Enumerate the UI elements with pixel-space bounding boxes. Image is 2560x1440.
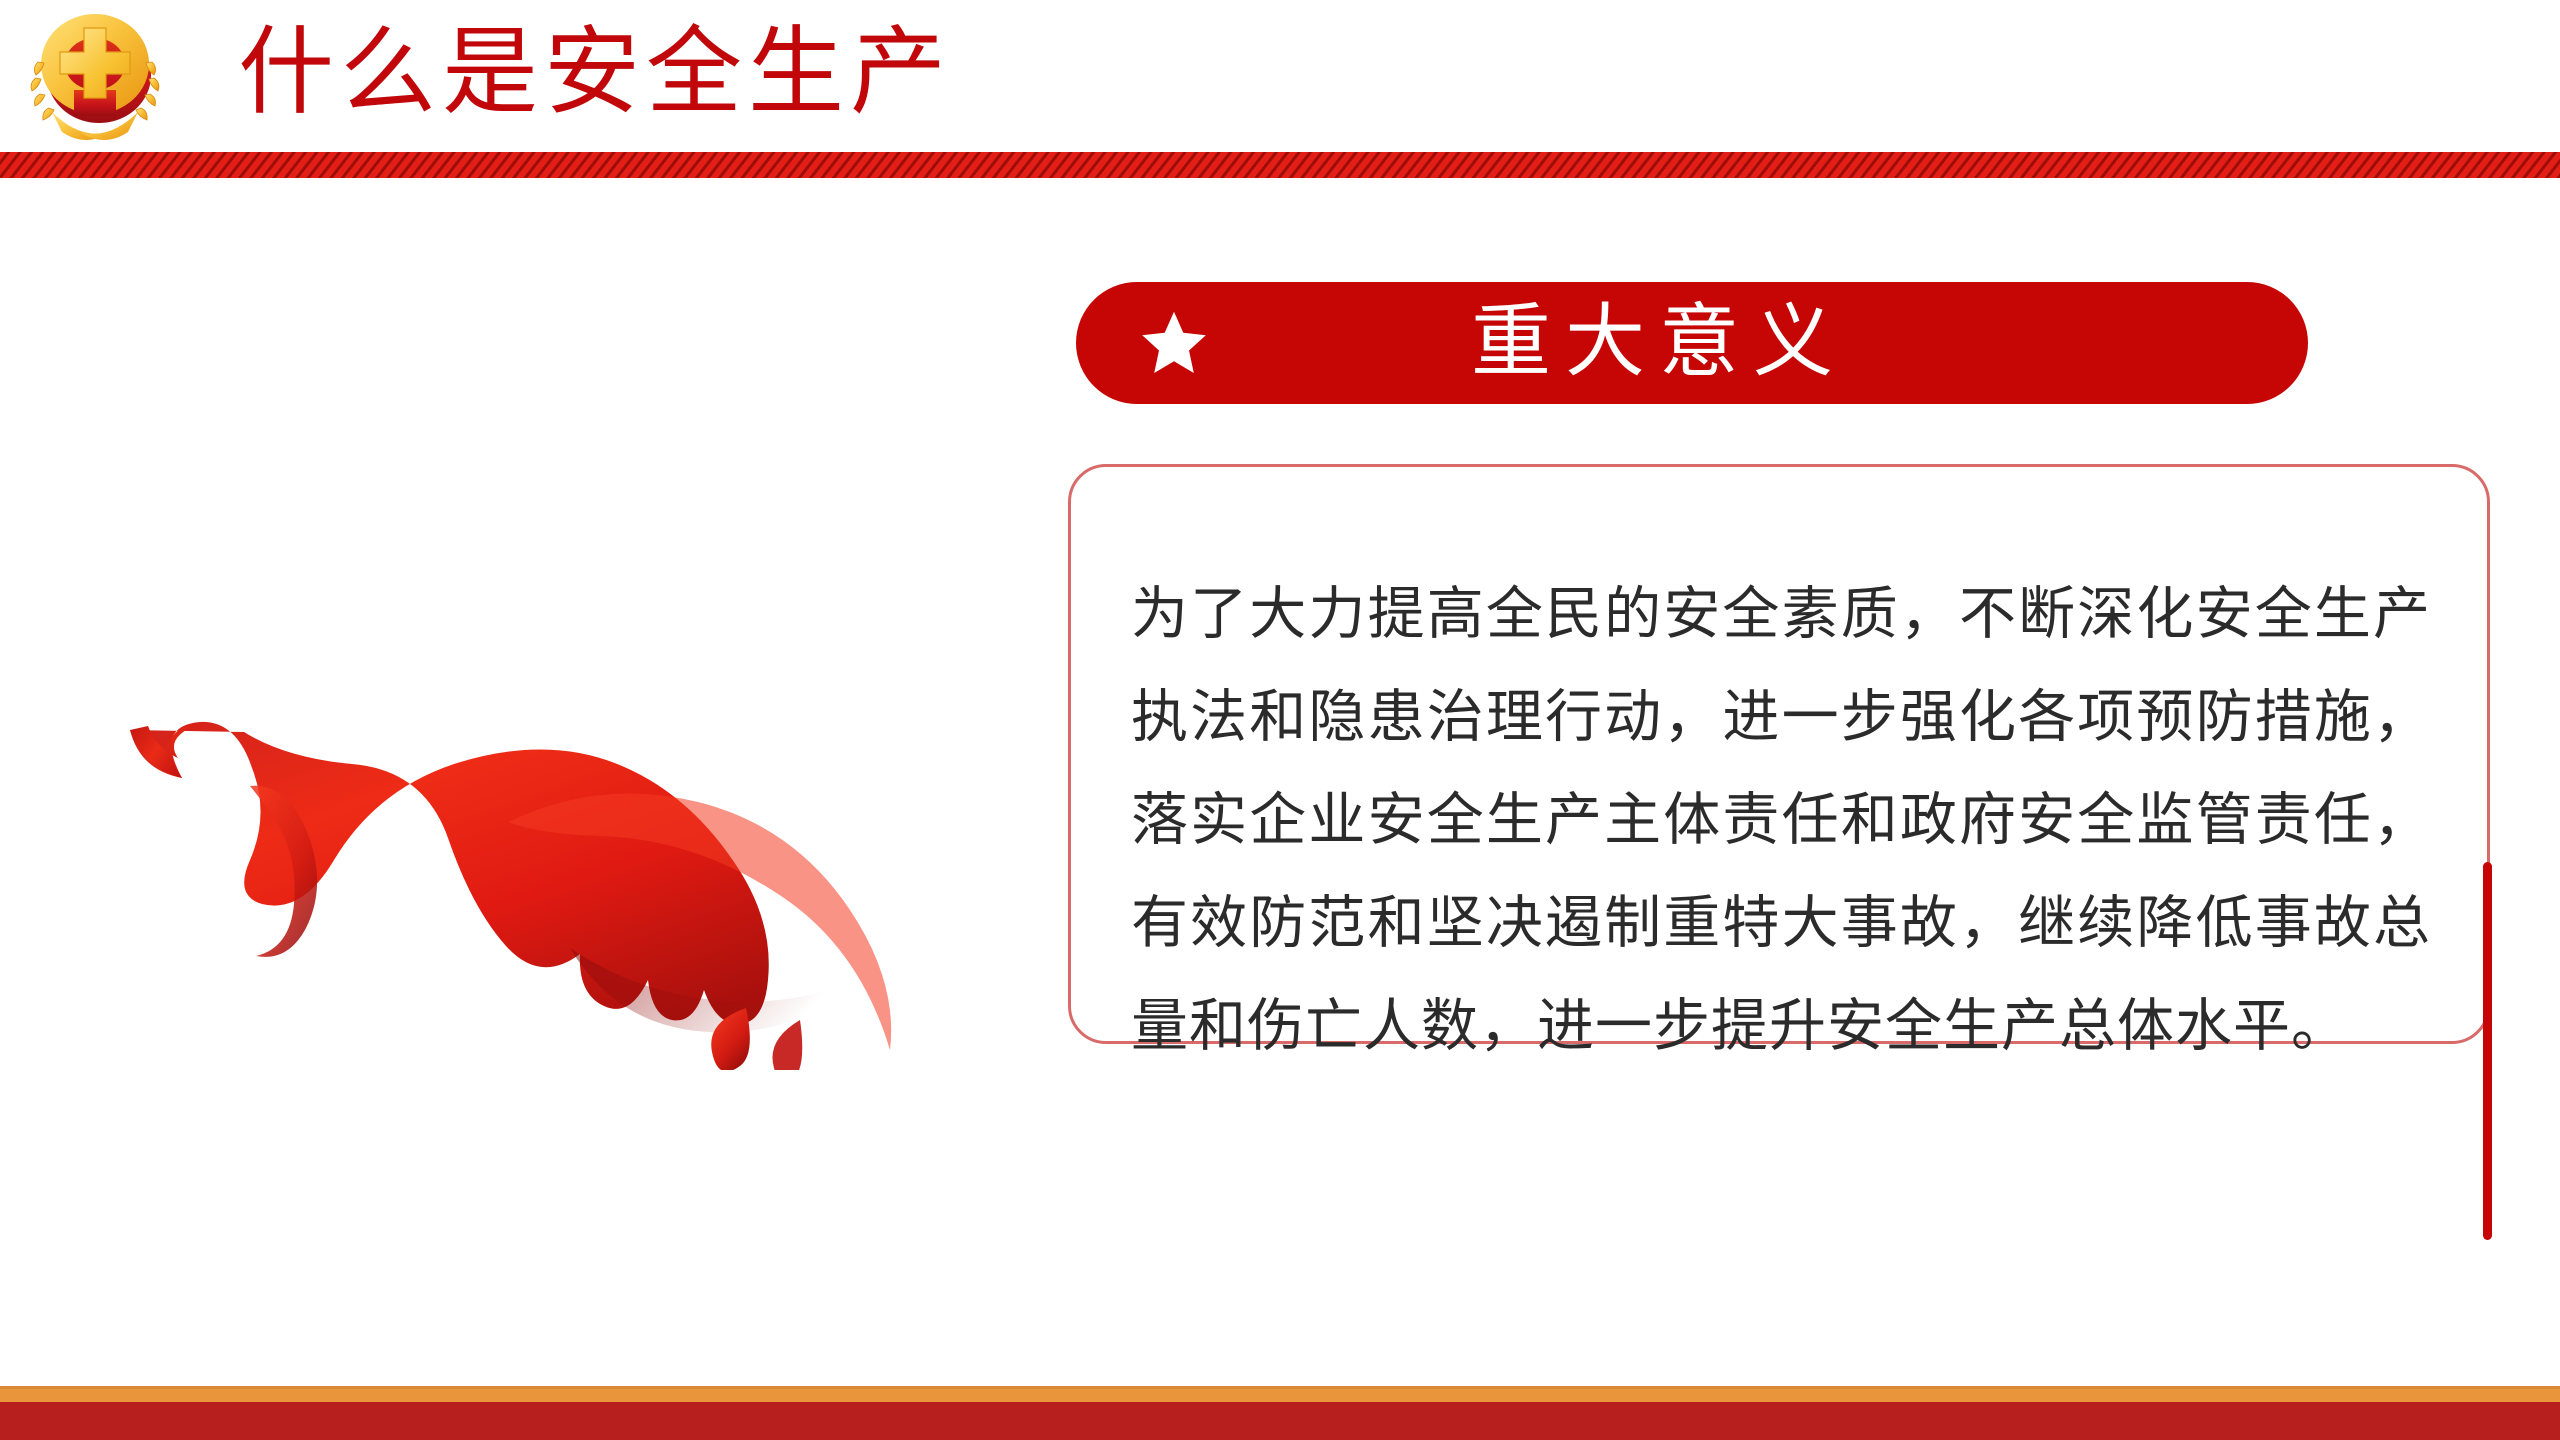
footer-red-band bbox=[0, 1402, 2560, 1440]
red-silk-ribbon-graphic bbox=[100, 690, 1050, 1070]
section-banner: 重大意义 bbox=[1076, 282, 2308, 404]
content-card: 为了大力提高全民的安全素质，不断深化安全生产执法和隐患治理行动，进一步强化各项预… bbox=[1068, 464, 2490, 1044]
safety-production-emblem-icon bbox=[22, 4, 168, 150]
content-column: 重大意义 为了大力提高全民的安全素质，不断深化安全生产执法和隐患治理行动，进一步… bbox=[1068, 282, 2498, 1232]
content-body-text: 为了大力提高全民的安全素质，不断深化安全生产执法和隐患治理行动，进一步强化各项预… bbox=[1131, 563, 2431, 1078]
section-banner-label: 重大意义 bbox=[1210, 303, 2308, 383]
header-striped-divider bbox=[0, 152, 2560, 178]
page-title: 什么是安全生产 bbox=[238, 8, 952, 138]
card-right-accent-bar bbox=[2483, 862, 2492, 1240]
slide-header: 什么是安全生产 bbox=[0, 0, 2560, 152]
star-icon bbox=[1138, 307, 1210, 379]
